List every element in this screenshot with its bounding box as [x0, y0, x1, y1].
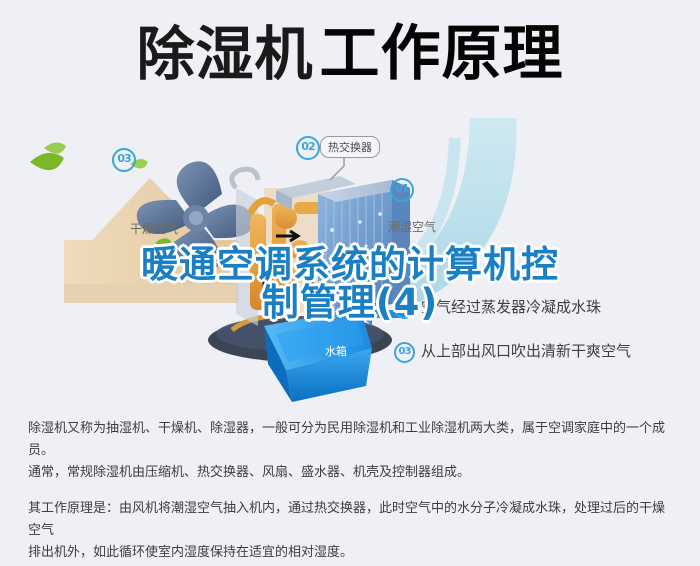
badge-03: 03 [112, 148, 136, 172]
label-humid-air: 潮湿空气 [388, 218, 436, 235]
leaf-icon [30, 153, 64, 170]
label-water-tank: 水箱 [325, 343, 347, 359]
badge-02: 02 [296, 136, 320, 160]
badge-01: 01 [390, 178, 414, 202]
leaf-icon [44, 142, 66, 153]
page-title: 除湿机工作原理 [0, 24, 700, 84]
page-root: 除湿机工作原理 [0, 0, 700, 566]
note-badge-03: 03 [394, 342, 415, 363]
dry-air-arrow-base [64, 284, 238, 303]
page-title-part-2: 工作原理 [320, 19, 564, 89]
note-text-02: 空气经过蒸发器冷凝成水珠 [421, 298, 601, 316]
callout-heat-exchanger: 热交换器 [320, 136, 380, 158]
paragraph-2-line-2: 排出机外，如此循环使室内湿度保持在适宜的相对湿度。 [28, 542, 676, 564]
paragraph-1-line-2: 通常，常规除湿机由压缩机、热交换器、风扇、盛水器、机壳及控制器组成。 [28, 462, 676, 484]
label-dry-air: 干燥空气 [130, 220, 178, 237]
page-title-part-1: 除湿机 [136, 20, 313, 88]
article-body: 除湿机又称为抽湿机、干燥机、除湿器，一般可分为民用除湿机和工业除湿机两大类，属于… [28, 418, 676, 564]
note-item-03: 03从上部出风口吹出清新干爽空气 [394, 340, 631, 363]
note-text-03: 从上部出风口吹出清新干爽空气 [421, 342, 631, 360]
paragraph-2-line-1: 其工作原理是：由风机将潮湿空气抽入机内，通过热交换器，此时空气中的水分子冷凝成水… [28, 498, 676, 542]
note-badge-02: 02 [394, 298, 415, 319]
paragraph-1-line-1: 除湿机又称为抽湿机、干燥机、除湿器，一般可分为民用除湿机和工业除湿机两大类，属于… [28, 418, 676, 462]
paragraph-spacer [28, 484, 676, 498]
note-item-02: 02空气经过蒸发器冷凝成水珠 [394, 296, 601, 319]
